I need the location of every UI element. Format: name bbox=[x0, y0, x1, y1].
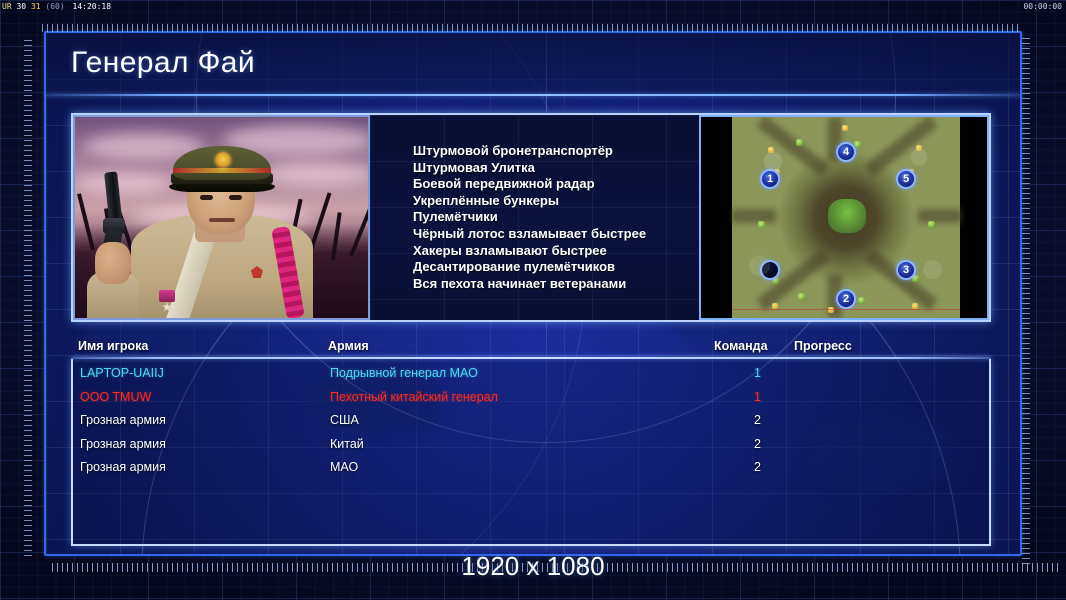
general-portrait bbox=[73, 115, 370, 320]
map-center-resources bbox=[828, 199, 866, 233]
status-clock: 14:20:18 bbox=[73, 2, 112, 11]
cell-player-name: Грозная армия bbox=[80, 409, 166, 433]
cloud bbox=[73, 173, 173, 193]
ruler-left-icon bbox=[24, 40, 32, 560]
supply-node bbox=[916, 145, 922, 151]
resource-node bbox=[798, 293, 805, 300]
map-lane bbox=[732, 209, 776, 223]
ability-list: Штурмовой бронетранспортёр Штурмовая Ули… bbox=[413, 143, 699, 292]
cloud bbox=[263, 163, 370, 185]
cell-team: 1 bbox=[745, 386, 761, 410]
resolution-caption: 1920 x 1080 bbox=[0, 551, 1066, 582]
supply-node bbox=[908, 169, 914, 175]
ability-item: Вся пехота начинает ветеранами bbox=[413, 276, 699, 293]
column-header-army: Армия bbox=[328, 339, 369, 353]
general-mouth bbox=[209, 218, 235, 222]
map-lane bbox=[828, 117, 842, 161]
cell-player-name: OOO TMUW bbox=[80, 386, 151, 410]
status-value-3: (60) bbox=[45, 2, 64, 11]
map-terrain: 1 2 3 4 5 bbox=[732, 117, 960, 318]
resource-node bbox=[772, 277, 779, 284]
start-position-empty[interactable] bbox=[760, 260, 780, 280]
cap-stripe bbox=[173, 168, 271, 173]
table-row[interactable]: Грозная армия Китай 2 bbox=[73, 433, 989, 457]
ability-item: Боевой передвижной радар bbox=[413, 176, 699, 193]
cell-army: Пехотный китайский генерал bbox=[330, 386, 498, 410]
page-title: Генерал Фай bbox=[71, 46, 255, 80]
start-position-3[interactable]: 3 bbox=[896, 260, 916, 280]
ability-item: Штурмовой бронетранспортёр bbox=[413, 143, 699, 160]
ability-item: Десантирование пулемётчиков bbox=[413, 259, 699, 276]
column-header-team: Команда bbox=[714, 339, 768, 353]
players-table-body: LAPTOP-UAIIJ Подрывной генерал МАО 1 OOO… bbox=[73, 359, 989, 480]
cap-emblem-icon bbox=[215, 152, 231, 168]
map-lane bbox=[864, 249, 937, 311]
general-info-panel: Штурмовой бронетранспортёр Штурмовая Ули… bbox=[71, 113, 991, 322]
cell-team: 2 bbox=[745, 433, 761, 457]
supply-node bbox=[768, 147, 774, 153]
title-divider bbox=[46, 94, 1020, 96]
cell-team: 2 bbox=[745, 409, 761, 433]
cell-army: США bbox=[330, 409, 359, 433]
table-row[interactable]: LAPTOP-UAIIJ Подрывной генерал МАО 1 bbox=[73, 362, 989, 386]
table-row[interactable]: Грозная армия США 2 bbox=[73, 409, 989, 433]
cell-army: МАО bbox=[330, 456, 358, 480]
resource-node bbox=[854, 141, 861, 148]
resource-node bbox=[758, 221, 765, 228]
ability-item: Укреплённые бункеры bbox=[413, 193, 699, 210]
match-timer: 00:00:00 bbox=[1023, 0, 1062, 13]
map-lane bbox=[864, 115, 937, 177]
supply-node bbox=[912, 303, 918, 309]
start-position-1[interactable]: 1 bbox=[760, 169, 780, 189]
status-left-readout: UR 30 31 (60) 14:20:18 bbox=[2, 0, 111, 13]
ruler-right-icon bbox=[1022, 38, 1030, 566]
status-value-2: 31 bbox=[31, 2, 41, 11]
table-row[interactable]: Грозная армия МАО 2 bbox=[73, 456, 989, 480]
ability-item: Хакеры взламывают быстрее bbox=[413, 243, 699, 260]
supply-node bbox=[774, 169, 780, 175]
table-row[interactable]: OOO TMUW Пехотный китайский генерал 1 bbox=[73, 386, 989, 410]
map-preview[interactable]: 1 2 3 4 5 bbox=[699, 115, 989, 320]
general-hand bbox=[95, 242, 131, 284]
map-lane bbox=[756, 249, 829, 311]
cell-team: 2 bbox=[745, 456, 761, 480]
players-table-header: Имя игрока Армия Команда Прогресс bbox=[71, 339, 991, 359]
general-eye-right bbox=[229, 195, 242, 200]
table-divider bbox=[71, 357, 991, 359]
status-value-1: 30 bbox=[16, 2, 26, 11]
map-lane bbox=[828, 275, 842, 319]
status-label: UR bbox=[2, 2, 12, 11]
map-boundary-line bbox=[732, 309, 960, 310]
cell-player-name: LAPTOP-UAIIJ bbox=[80, 362, 164, 386]
supply-node bbox=[842, 125, 848, 131]
resource-node bbox=[912, 275, 919, 282]
supply-node bbox=[828, 307, 834, 313]
column-header-player-name: Имя игрока bbox=[78, 339, 148, 353]
ability-item: Чёрный лотос взламывает быстрее bbox=[413, 226, 699, 243]
supply-node bbox=[772, 303, 778, 309]
map-lane bbox=[756, 115, 829, 177]
start-position-2[interactable]: 2 bbox=[836, 289, 856, 309]
cell-army: Подрывной генерал МАО bbox=[330, 362, 478, 386]
resource-node bbox=[858, 297, 865, 304]
cell-army: Китай bbox=[330, 433, 364, 457]
general-abilities: Штурмовой бронетранспортёр Штурмовая Ули… bbox=[370, 115, 699, 320]
start-position-4[interactable]: 4 bbox=[836, 142, 856, 162]
cell-player-name: Грозная армия bbox=[80, 456, 166, 480]
game-lobby-screen: UR 30 31 (60) 14:20:18 00:00:00 Генерал … bbox=[0, 0, 1066, 600]
general-eye-left bbox=[200, 195, 213, 200]
ability-item: Штурмовая Улитка bbox=[413, 160, 699, 177]
status-bar: UR 30 31 (60) 14:20:18 00:00:00 bbox=[0, 0, 1066, 13]
column-header-progress: Прогресс bbox=[794, 339, 852, 353]
medal-icon bbox=[159, 290, 175, 302]
ability-item: Пулемётчики bbox=[413, 209, 699, 226]
resource-node bbox=[928, 221, 935, 228]
resource-node bbox=[796, 139, 803, 146]
players-table-panel: LAPTOP-UAIIJ Подрывной генерал МАО 1 OOO… bbox=[71, 359, 991, 546]
cell-team: 1 bbox=[745, 362, 761, 386]
map-lane bbox=[918, 209, 962, 223]
cell-player-name: Грозная армия bbox=[80, 433, 166, 457]
start-position-5[interactable]: 5 bbox=[896, 169, 916, 189]
